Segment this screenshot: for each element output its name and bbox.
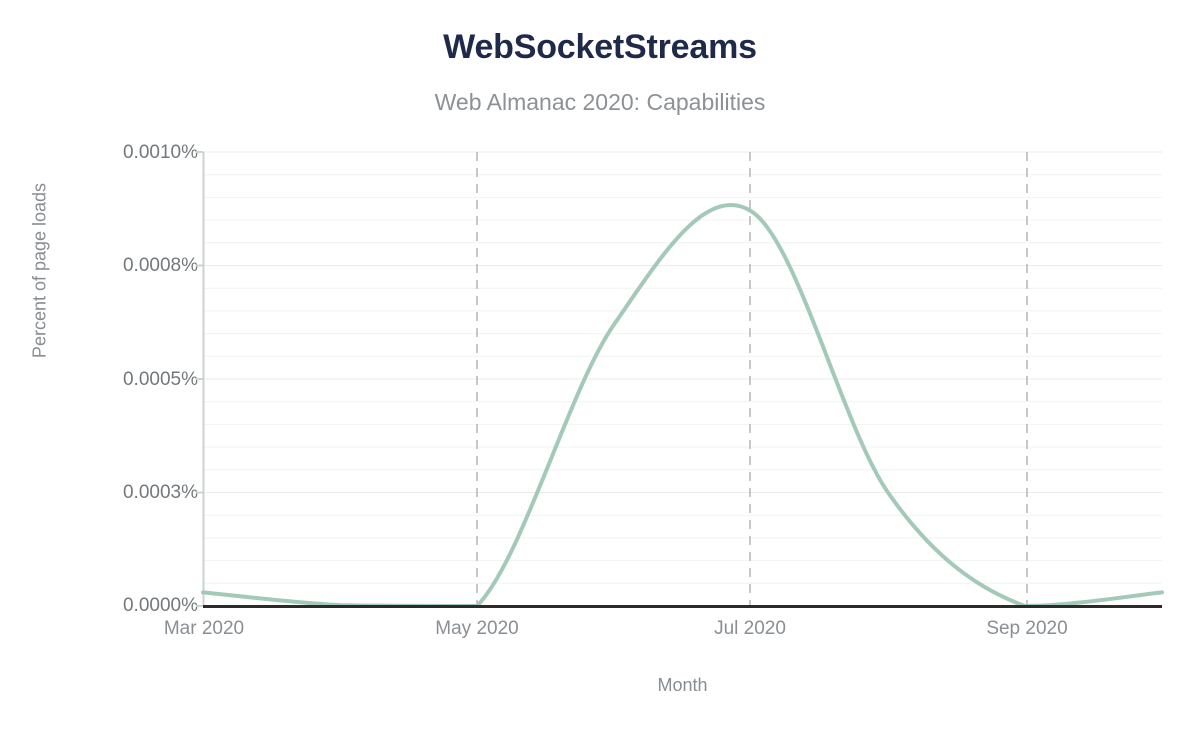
plot-area [0,0,1200,742]
grid-horizontal-major [203,152,1162,493]
chart-container: WebSocketStreams Web Almanac 2020: Capab… [0,0,1200,742]
y-axis-spine [196,152,204,606]
